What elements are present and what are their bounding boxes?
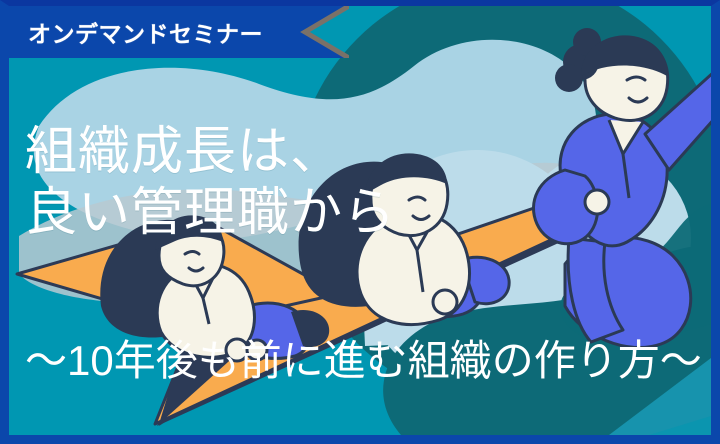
page-subtitle: 〜10年後も前に進む組織の作り方〜: [25, 338, 702, 384]
headline-line-2: 良い管理職から: [25, 183, 396, 244]
badge-ribbon: オンデマンドセミナー: [9, 6, 349, 58]
headline-line-1: 組織成長は、: [25, 122, 396, 183]
badge-label: オンデマンドセミナー: [28, 6, 263, 58]
page-title: 組織成長は、 良い管理職から: [25, 122, 396, 244]
seminar-banner: オンデマンドセミナー 組織成長は、 良い管理職から 〜10年後も前に進む組織の作…: [0, 0, 720, 444]
